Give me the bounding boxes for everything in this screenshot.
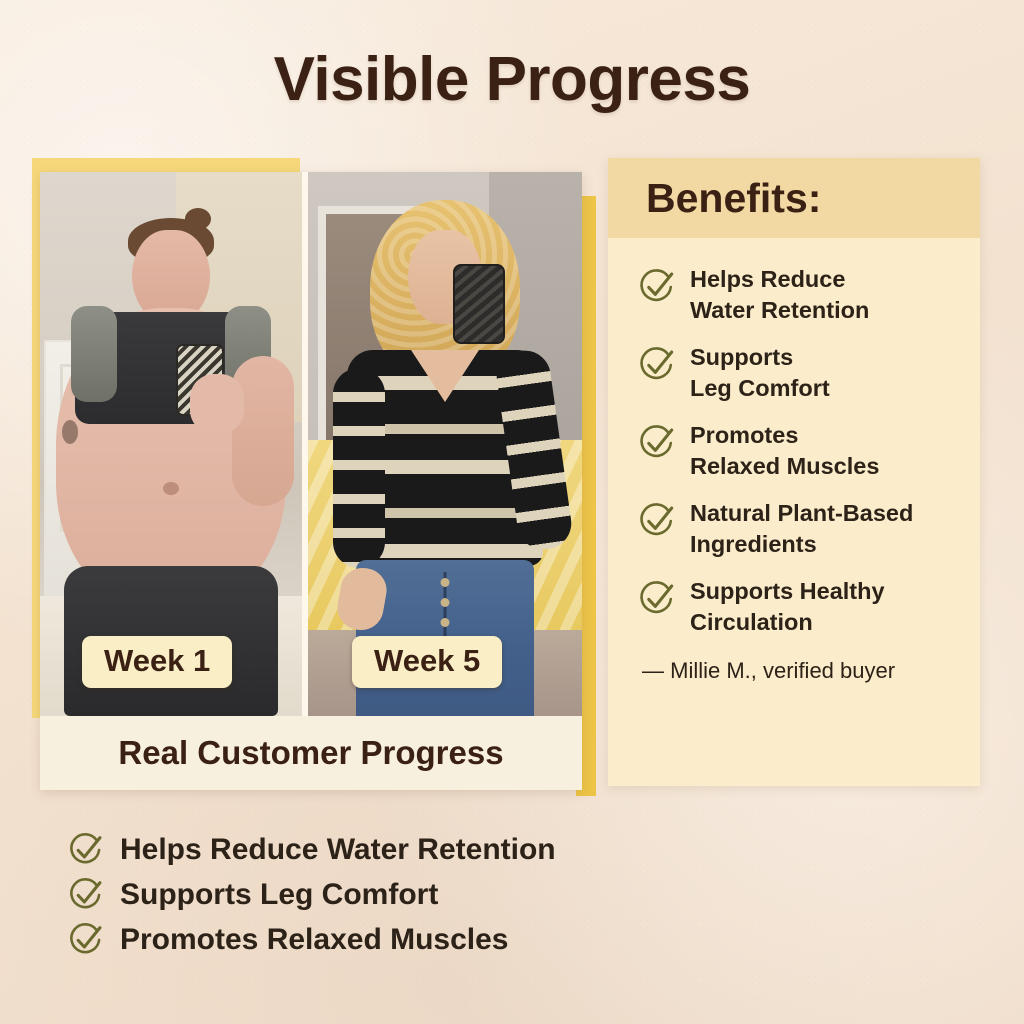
check-circle-icon bbox=[68, 922, 104, 958]
check-circle-icon bbox=[638, 502, 676, 540]
comparison-caption: Real Customer Progress bbox=[40, 716, 582, 790]
benefit-item: Promotes Relaxed Muscles bbox=[638, 420, 956, 481]
benefit-label: Supports Leg Comfort bbox=[690, 342, 830, 403]
benefits-header-label: Benefits: bbox=[646, 175, 821, 222]
bottom-list-item: Helps Reduce Water Retention bbox=[68, 832, 708, 868]
photo-pair: Week 1 bbox=[40, 172, 582, 716]
benefit-label: Helps Reduce Water Retention bbox=[690, 264, 869, 325]
check-circle-icon bbox=[638, 424, 676, 462]
benefits-attribution: — Millie M., verified buyer bbox=[608, 654, 980, 684]
benefits-header: Benefits: bbox=[608, 158, 980, 238]
benefit-label: Promotes Relaxed Muscles bbox=[690, 420, 879, 481]
bottom-list-item: Supports Leg Comfort bbox=[68, 877, 708, 913]
benefits-panel: Benefits: Helps Reduce Water Retention S… bbox=[608, 158, 980, 786]
benefits-list: Helps Reduce Water Retention Supports Le… bbox=[608, 238, 980, 637]
bottom-list-item: Promotes Relaxed Muscles bbox=[68, 922, 708, 958]
benefit-label: Natural Plant-Based Ingredients bbox=[690, 498, 913, 559]
bottom-list-label: Promotes Relaxed Muscles bbox=[120, 923, 509, 957]
check-circle-icon bbox=[68, 832, 104, 868]
check-circle-icon bbox=[68, 877, 104, 913]
check-circle-icon bbox=[638, 268, 676, 306]
after-photo-image bbox=[308, 172, 582, 716]
benefit-item: Helps Reduce Water Retention bbox=[638, 264, 956, 325]
after-week-badge: Week 5 bbox=[352, 636, 502, 688]
benefit-item: Supports Leg Comfort bbox=[638, 342, 956, 403]
before-photo: Week 1 bbox=[40, 172, 302, 716]
after-photo: Week 5 bbox=[308, 172, 582, 716]
page-title: Visible Progress bbox=[0, 44, 1024, 115]
bottom-benefits-list: Helps Reduce Water Retention Supports Le… bbox=[68, 832, 708, 967]
bottom-list-label: Helps Reduce Water Retention bbox=[120, 833, 556, 867]
check-circle-icon bbox=[638, 580, 676, 618]
before-photo-image bbox=[40, 172, 302, 716]
benefit-label: Supports Healthy Circulation bbox=[690, 576, 885, 637]
before-week-badge: Week 1 bbox=[82, 636, 232, 688]
benefit-item: Natural Plant-Based Ingredients bbox=[638, 498, 956, 559]
benefit-item: Supports Healthy Circulation bbox=[638, 576, 956, 637]
check-circle-icon bbox=[638, 346, 676, 384]
before-after-card: Week 1 bbox=[40, 172, 582, 790]
bottom-list-label: Supports Leg Comfort bbox=[120, 878, 438, 912]
